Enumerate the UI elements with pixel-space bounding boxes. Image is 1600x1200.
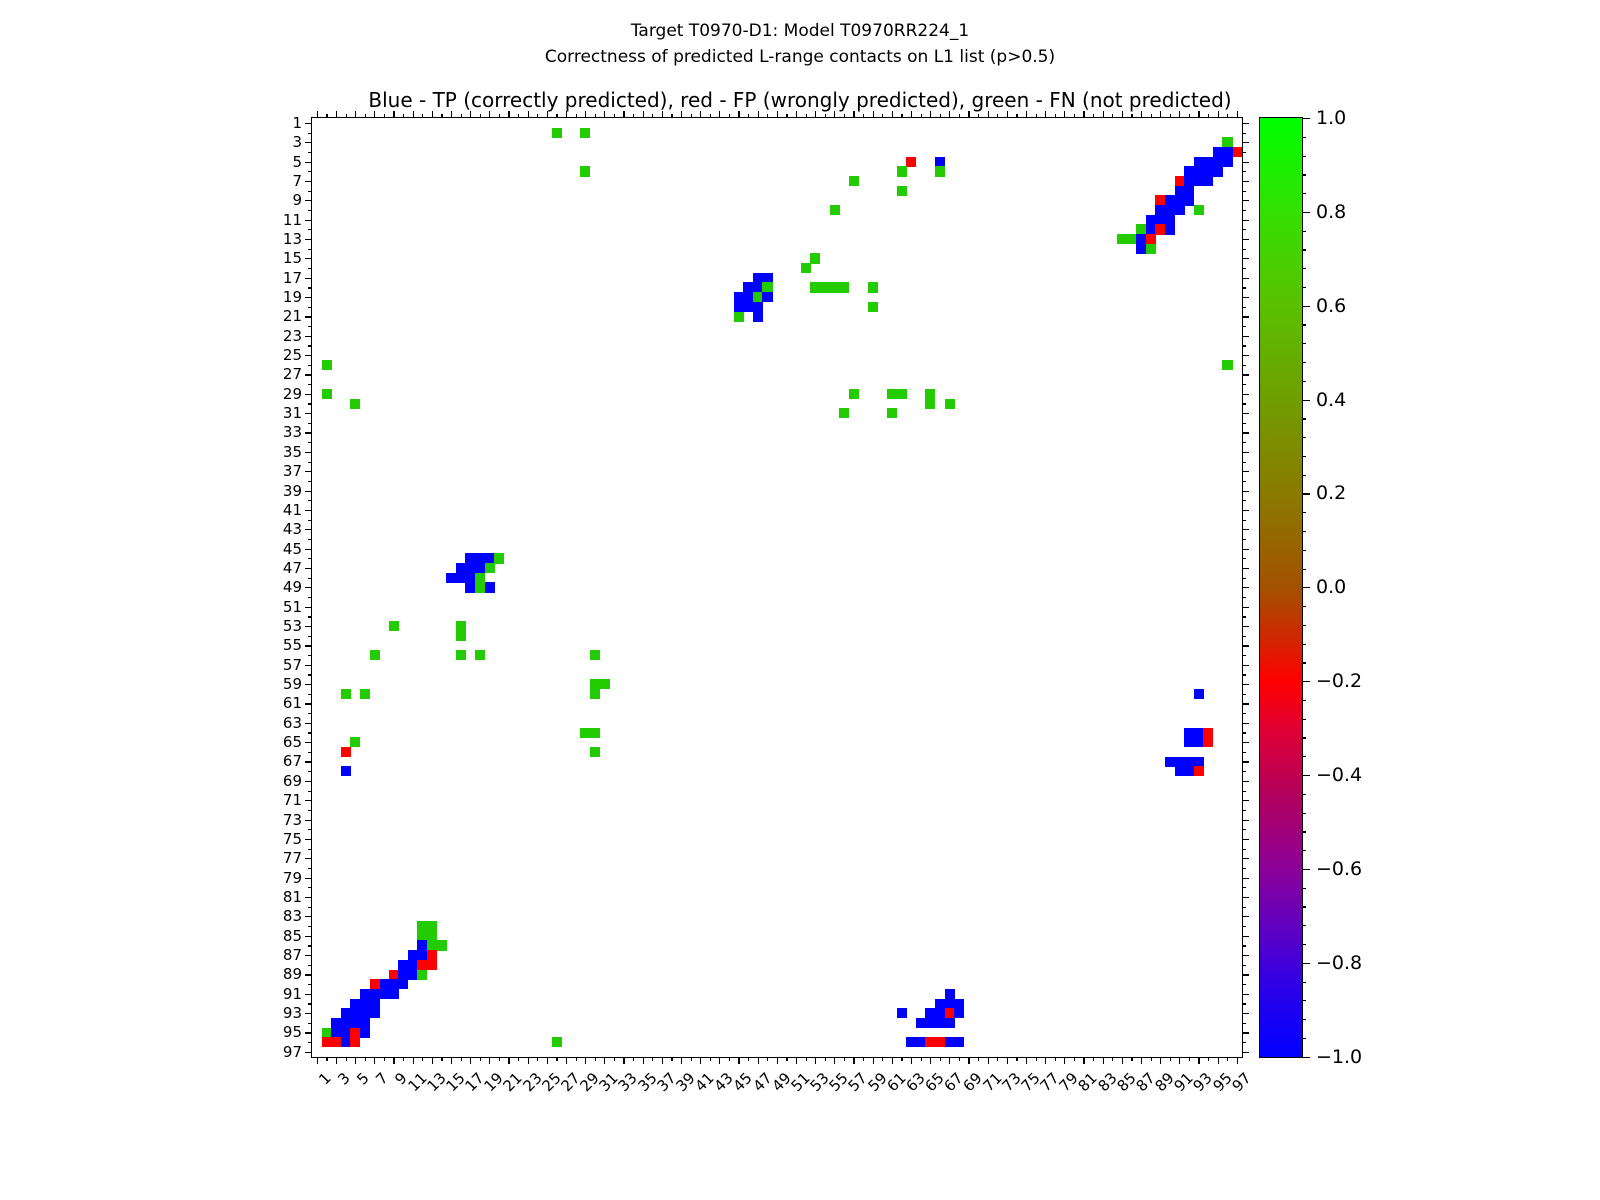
axis-tick bbox=[1242, 307, 1246, 308]
contact-cell bbox=[925, 1008, 935, 1018]
contact-cell bbox=[417, 921, 427, 931]
colorbar-minor-tick bbox=[1302, 381, 1306, 382]
axis-tick bbox=[305, 239, 312, 240]
axis-tick bbox=[1242, 713, 1246, 714]
axis-tick bbox=[305, 529, 312, 530]
y-axis-tick-label: 85 bbox=[283, 927, 302, 945]
axis-tick bbox=[1242, 258, 1249, 259]
axis-tick bbox=[1242, 839, 1249, 840]
axis-tick bbox=[940, 114, 941, 118]
contact-cell bbox=[322, 1028, 332, 1038]
contact-cell bbox=[350, 1008, 360, 1018]
axis-tick bbox=[305, 394, 312, 395]
axis-tick bbox=[844, 114, 845, 118]
axis-tick bbox=[305, 142, 312, 143]
axis-tick bbox=[308, 171, 312, 172]
colorbar-minor-tick bbox=[1302, 925, 1306, 926]
axis-tick bbox=[1242, 239, 1249, 240]
axis-tick bbox=[305, 820, 312, 821]
y-axis-tick-label: 75 bbox=[283, 830, 302, 848]
axis-tick bbox=[305, 1013, 312, 1014]
axis-tick bbox=[1242, 249, 1246, 250]
axis-tick bbox=[930, 1057, 931, 1064]
colorbar-tick bbox=[1302, 212, 1310, 213]
contact-cell bbox=[1184, 195, 1194, 205]
contact-cell bbox=[475, 563, 485, 573]
axis-tick bbox=[1160, 111, 1161, 118]
colorbar-minor-tick bbox=[1302, 794, 1306, 795]
axis-tick bbox=[873, 111, 874, 118]
contact-cell bbox=[935, 157, 945, 167]
axis-tick bbox=[393, 1057, 394, 1064]
colorbar-tick-label: −0.6 bbox=[1316, 858, 1362, 880]
axis-tick bbox=[461, 114, 462, 118]
axis-tick bbox=[365, 114, 366, 118]
colorbar-minor-tick bbox=[1302, 756, 1306, 757]
axis-tick bbox=[1007, 111, 1008, 118]
axis-tick bbox=[1237, 1057, 1238, 1064]
axis-tick bbox=[308, 442, 312, 443]
axis-tick bbox=[305, 897, 312, 898]
axis-tick bbox=[305, 316, 312, 317]
contact-cell bbox=[945, 399, 955, 409]
contact-cell bbox=[1203, 176, 1213, 186]
axis-tick bbox=[403, 1057, 404, 1061]
axis-tick bbox=[968, 111, 969, 118]
axis-tick bbox=[1242, 926, 1246, 927]
contact-cell bbox=[954, 999, 964, 1009]
colorbar-minor-tick bbox=[1302, 475, 1306, 476]
axis-tick bbox=[308, 1023, 312, 1024]
axis-tick bbox=[729, 114, 730, 118]
axis-tick bbox=[1242, 752, 1246, 753]
axis-tick bbox=[959, 1057, 960, 1061]
axis-tick bbox=[786, 114, 787, 118]
axis-tick bbox=[308, 539, 312, 540]
axis-tick bbox=[308, 810, 312, 811]
colorbar-tick-label: 0.4 bbox=[1316, 389, 1346, 411]
axis-tick bbox=[1242, 423, 1246, 424]
axis-tick bbox=[308, 287, 312, 288]
y-axis-tick-label: 39 bbox=[283, 482, 302, 500]
colorbar-minor-tick bbox=[1302, 700, 1306, 701]
contact-cell bbox=[849, 176, 859, 186]
axis-tick bbox=[441, 114, 442, 118]
axis-tick bbox=[1242, 1023, 1246, 1024]
axis-tick bbox=[1242, 781, 1249, 782]
colorbar-minor-tick bbox=[1302, 1000, 1306, 1001]
contact-cell bbox=[427, 921, 437, 931]
y-axis-tick-label: 87 bbox=[283, 946, 302, 964]
axis-tick bbox=[585, 1057, 586, 1064]
contact-cell bbox=[1146, 224, 1156, 234]
axis-tick bbox=[921, 1057, 922, 1061]
y-axis-tick-label: 97 bbox=[283, 1043, 302, 1061]
axis-tick bbox=[305, 781, 312, 782]
axis-tick bbox=[308, 210, 312, 211]
axis-tick bbox=[461, 1057, 462, 1061]
colorbar-tick bbox=[1302, 869, 1310, 870]
contact-cell bbox=[350, 1018, 360, 1028]
colorbar-minor-tick bbox=[1302, 174, 1306, 175]
colorbar-minor-tick bbox=[1302, 512, 1306, 513]
axis-tick bbox=[413, 111, 414, 118]
axis-tick bbox=[566, 1057, 567, 1064]
contact-cell bbox=[370, 1008, 380, 1018]
axis-tick bbox=[1242, 403, 1246, 404]
contact-cell bbox=[935, 166, 945, 176]
y-axis-tick-label: 61 bbox=[283, 694, 302, 712]
contact-cell bbox=[762, 292, 772, 302]
axis-tick bbox=[719, 1057, 720, 1064]
colorbar-tick-label: 0.8 bbox=[1316, 201, 1346, 223]
colorbar-minor-tick bbox=[1302, 850, 1306, 851]
colorbar-minor-tick bbox=[1302, 719, 1306, 720]
axis-tick bbox=[470, 111, 471, 118]
colorbar-tick bbox=[1302, 775, 1310, 776]
contact-cell bbox=[906, 1037, 916, 1047]
axis-tick bbox=[633, 114, 634, 118]
contact-cell bbox=[743, 302, 753, 312]
axis-tick bbox=[305, 936, 312, 937]
axis-tick bbox=[365, 1057, 366, 1061]
axis-tick bbox=[308, 326, 312, 327]
y-axis-tick-label: 3 bbox=[292, 133, 302, 151]
contact-cell bbox=[1194, 176, 1204, 186]
axis-tick bbox=[652, 114, 653, 118]
contact-cell bbox=[1222, 147, 1232, 157]
colorbar-minor-tick bbox=[1302, 550, 1306, 551]
colorbar-tick bbox=[1302, 118, 1310, 119]
axis-tick bbox=[336, 111, 337, 118]
contact-cell bbox=[552, 1037, 562, 1047]
axis-tick bbox=[1112, 114, 1113, 118]
colorbar-tick bbox=[1302, 1057, 1310, 1058]
y-axis-tick-label: 19 bbox=[283, 288, 302, 306]
axis-tick bbox=[614, 1057, 615, 1061]
contact-cell bbox=[408, 950, 418, 960]
contact-cell bbox=[1175, 176, 1185, 186]
axis-tick bbox=[700, 111, 701, 118]
axis-tick bbox=[470, 1057, 471, 1064]
figure-title: Target T0970-D1: Model T0970RR224_1 Corr… bbox=[0, 18, 1600, 70]
axis-tick bbox=[305, 839, 312, 840]
axis-tick bbox=[1242, 607, 1249, 608]
colorbar-minor-tick bbox=[1302, 531, 1306, 532]
y-axis-tick-label: 37 bbox=[283, 462, 302, 480]
y-axis-tick-label: 79 bbox=[283, 869, 302, 887]
axis-tick bbox=[1242, 897, 1249, 898]
axis-tick bbox=[700, 1057, 701, 1064]
contact-cell bbox=[753, 273, 763, 283]
axis-tick bbox=[968, 1057, 969, 1064]
y-axis-tick-label: 1 bbox=[292, 114, 302, 132]
contact-cell bbox=[389, 979, 399, 989]
axis-tick bbox=[308, 694, 312, 695]
colorbar-minor-tick bbox=[1302, 1038, 1306, 1039]
y-axis-tick-label: 65 bbox=[283, 733, 302, 751]
contact-cell bbox=[350, 1028, 360, 1038]
colorbar-minor-tick bbox=[1302, 137, 1306, 138]
contact-cell bbox=[1184, 728, 1194, 738]
contact-cell bbox=[1175, 766, 1185, 776]
axis-tick bbox=[671, 1057, 672, 1061]
axis-tick bbox=[1242, 694, 1246, 695]
colorbar-minor-tick bbox=[1302, 343, 1306, 344]
axis-tick bbox=[1218, 1057, 1219, 1064]
contact-cell bbox=[1127, 234, 1137, 244]
axis-tick bbox=[1242, 916, 1249, 917]
axis-tick bbox=[1093, 114, 1094, 118]
contact-cell bbox=[1194, 157, 1204, 167]
contact-cell bbox=[341, 1018, 351, 1028]
axis-tick bbox=[1242, 432, 1249, 433]
x-axis-tick-label: 97 bbox=[1228, 1069, 1254, 1095]
axis-tick bbox=[1242, 297, 1249, 298]
contact-cell bbox=[341, 1028, 351, 1038]
axis-tick bbox=[305, 878, 312, 879]
axis-tick bbox=[652, 1057, 653, 1061]
axis-tick bbox=[1237, 111, 1238, 118]
axis-tick bbox=[777, 1057, 778, 1064]
contact-map-plot-area: 1133557799111113131515171719192121232325… bbox=[311, 117, 1243, 1058]
colorbar-tick-label: 1.0 bbox=[1316, 107, 1346, 129]
contact-cell bbox=[350, 399, 360, 409]
axis-tick bbox=[432, 1057, 433, 1064]
axis-tick bbox=[1242, 336, 1249, 337]
contact-cell bbox=[887, 389, 897, 399]
contact-cell bbox=[753, 302, 763, 312]
axis-tick bbox=[1242, 191, 1246, 192]
axis-tick bbox=[1179, 111, 1180, 118]
axis-tick bbox=[662, 111, 663, 118]
axis-tick bbox=[1242, 210, 1246, 211]
contact-cell bbox=[360, 1008, 370, 1018]
y-axis-tick-label: 33 bbox=[283, 423, 302, 441]
axis-tick bbox=[930, 111, 931, 118]
contact-cell bbox=[1194, 166, 1204, 176]
contact-cell bbox=[485, 582, 495, 592]
y-axis-tick-label: 95 bbox=[283, 1023, 302, 1041]
axis-tick bbox=[1055, 114, 1056, 118]
axis-tick bbox=[305, 162, 312, 163]
axis-tick bbox=[729, 1057, 730, 1061]
axis-tick bbox=[825, 114, 826, 118]
axis-tick bbox=[451, 111, 452, 118]
axis-tick bbox=[308, 345, 312, 346]
axis-tick bbox=[671, 114, 672, 118]
contact-cell bbox=[341, 747, 351, 757]
axis-tick bbox=[422, 1057, 423, 1061]
axis-tick bbox=[308, 152, 312, 153]
contact-cell bbox=[1213, 157, 1223, 167]
axis-tick bbox=[863, 114, 864, 118]
contact-cell bbox=[475, 553, 485, 563]
axis-tick bbox=[1151, 1057, 1152, 1061]
axis-tick bbox=[1242, 142, 1249, 143]
contact-cell bbox=[417, 931, 427, 941]
axis-tick bbox=[308, 791, 312, 792]
contact-cell bbox=[341, 689, 351, 699]
contact-cell bbox=[1136, 224, 1146, 234]
colorbar-tick bbox=[1302, 400, 1310, 401]
contact-cell bbox=[734, 302, 744, 312]
axis-tick bbox=[844, 1057, 845, 1061]
contact-cell bbox=[897, 1008, 907, 1018]
colorbar-minor-tick bbox=[1302, 906, 1306, 907]
contact-cell bbox=[456, 621, 466, 631]
axis-tick bbox=[921, 114, 922, 118]
axis-tick bbox=[305, 355, 312, 356]
axis-tick bbox=[1242, 945, 1246, 946]
axis-tick bbox=[1242, 1052, 1249, 1053]
contact-cell bbox=[1194, 728, 1204, 738]
axis-tick bbox=[305, 742, 312, 743]
contact-cell bbox=[945, 999, 955, 1009]
axis-tick bbox=[997, 114, 998, 118]
axis-tick bbox=[528, 111, 529, 118]
contact-cell bbox=[1222, 360, 1232, 370]
y-axis-tick-label: 81 bbox=[283, 888, 302, 906]
axis-tick bbox=[305, 1052, 312, 1053]
contact-cell bbox=[360, 989, 370, 999]
axis-tick bbox=[305, 278, 312, 279]
axis-tick bbox=[1242, 858, 1249, 859]
axis-tick bbox=[1242, 974, 1249, 975]
axis-tick bbox=[710, 1057, 711, 1061]
axis-tick bbox=[308, 829, 312, 830]
contact-cell bbox=[360, 1018, 370, 1028]
axis-tick bbox=[308, 558, 312, 559]
axis-tick bbox=[1016, 114, 1017, 118]
axis-tick bbox=[308, 907, 312, 908]
axis-tick bbox=[1242, 529, 1249, 530]
contact-cell bbox=[370, 979, 380, 989]
colorbar-minor-tick bbox=[1302, 662, 1306, 663]
axis-tick bbox=[566, 111, 567, 118]
axis-tick bbox=[1036, 1057, 1037, 1061]
contact-cell bbox=[1203, 737, 1213, 747]
axis-tick bbox=[1242, 123, 1249, 124]
axis-tick bbox=[422, 114, 423, 118]
contact-cell bbox=[1194, 766, 1204, 776]
colorbar-tick bbox=[1302, 493, 1310, 494]
axis-tick bbox=[1242, 355, 1249, 356]
axis-tick bbox=[1242, 1042, 1246, 1043]
axis-tick bbox=[604, 1057, 605, 1064]
axis-tick bbox=[305, 916, 312, 917]
contact-cell bbox=[350, 1037, 360, 1047]
y-axis-tick-label: 5 bbox=[292, 153, 302, 171]
axis-tick bbox=[308, 868, 312, 869]
axis-tick bbox=[1242, 829, 1246, 830]
axis-tick bbox=[336, 1057, 337, 1064]
axis-tick bbox=[1242, 229, 1246, 230]
contact-cell bbox=[485, 553, 495, 563]
title-line-1: Target T0970-D1: Model T0970RR224_1 bbox=[0, 18, 1600, 44]
axis-tick bbox=[911, 1057, 912, 1064]
axis-tick bbox=[1242, 171, 1246, 172]
contact-cell bbox=[916, 1018, 926, 1028]
contact-cell bbox=[427, 960, 437, 970]
axis-tick bbox=[1242, 665, 1249, 666]
axis-tick bbox=[1189, 114, 1190, 118]
contact-cell bbox=[417, 970, 427, 980]
axis-tick bbox=[1242, 597, 1246, 598]
contact-cell bbox=[925, 1018, 935, 1028]
axis-tick bbox=[1242, 278, 1249, 279]
axis-tick bbox=[305, 181, 312, 182]
y-axis-tick-label: 11 bbox=[283, 211, 302, 229]
axis-tick bbox=[758, 111, 759, 118]
contact-cell bbox=[1184, 176, 1194, 186]
axis-tick bbox=[691, 114, 692, 118]
axis-tick bbox=[305, 1032, 312, 1033]
axis-tick bbox=[308, 307, 312, 308]
axis-tick bbox=[1189, 1057, 1190, 1061]
contact-cell bbox=[379, 979, 389, 989]
axis-tick bbox=[710, 114, 711, 118]
axis-tick bbox=[305, 761, 312, 762]
contact-cell bbox=[839, 408, 849, 418]
contact-cell bbox=[417, 960, 427, 970]
axis-tick bbox=[1242, 152, 1246, 153]
axis-tick bbox=[308, 655, 312, 656]
axis-tick bbox=[308, 713, 312, 714]
contact-cell bbox=[954, 1008, 964, 1018]
axis-tick bbox=[1218, 111, 1219, 118]
axis-tick bbox=[853, 111, 854, 118]
contact-cell bbox=[408, 960, 418, 970]
axis-tick bbox=[305, 452, 312, 453]
colorbar: 1.00.80.60.40.20.0−0.2−0.4−0.6−0.8−1.0 bbox=[1259, 117, 1303, 1058]
axis-tick bbox=[662, 1057, 663, 1064]
axis-tick bbox=[815, 111, 816, 118]
contact-cell bbox=[868, 282, 878, 292]
contact-cell bbox=[753, 292, 763, 302]
axis-tick bbox=[1242, 955, 1249, 956]
contact-cell bbox=[1165, 224, 1175, 234]
contact-cell bbox=[839, 282, 849, 292]
contact-cell bbox=[331, 1028, 341, 1038]
axis-tick bbox=[1131, 1057, 1132, 1061]
colorbar-minor-tick bbox=[1302, 362, 1306, 363]
x-axis-tick-label: 5 bbox=[353, 1069, 372, 1088]
contact-cell bbox=[1155, 224, 1165, 234]
axis-tick bbox=[308, 597, 312, 598]
colorbar-minor-tick bbox=[1302, 418, 1306, 419]
contact-cell bbox=[820, 282, 830, 292]
contact-cell bbox=[1222, 157, 1232, 167]
y-axis-tick-label: 7 bbox=[292, 172, 302, 190]
axis-tick bbox=[305, 607, 312, 608]
y-axis-tick-label: 93 bbox=[283, 1004, 302, 1022]
axis-tick bbox=[767, 114, 768, 118]
axis-tick bbox=[556, 1057, 557, 1061]
axis-tick bbox=[681, 1057, 682, 1064]
contact-cell bbox=[379, 989, 389, 999]
axis-tick bbox=[1242, 365, 1246, 366]
contact-cell bbox=[341, 766, 351, 776]
contact-cell bbox=[897, 186, 907, 196]
contact-cell bbox=[734, 292, 744, 302]
axis-tick bbox=[786, 1057, 787, 1061]
y-axis-tick-label: 57 bbox=[283, 656, 302, 674]
axis-tick bbox=[1242, 1003, 1246, 1004]
axis-tick bbox=[949, 1057, 950, 1064]
colorbar-minor-tick bbox=[1302, 982, 1306, 983]
contact-cell bbox=[465, 573, 475, 583]
